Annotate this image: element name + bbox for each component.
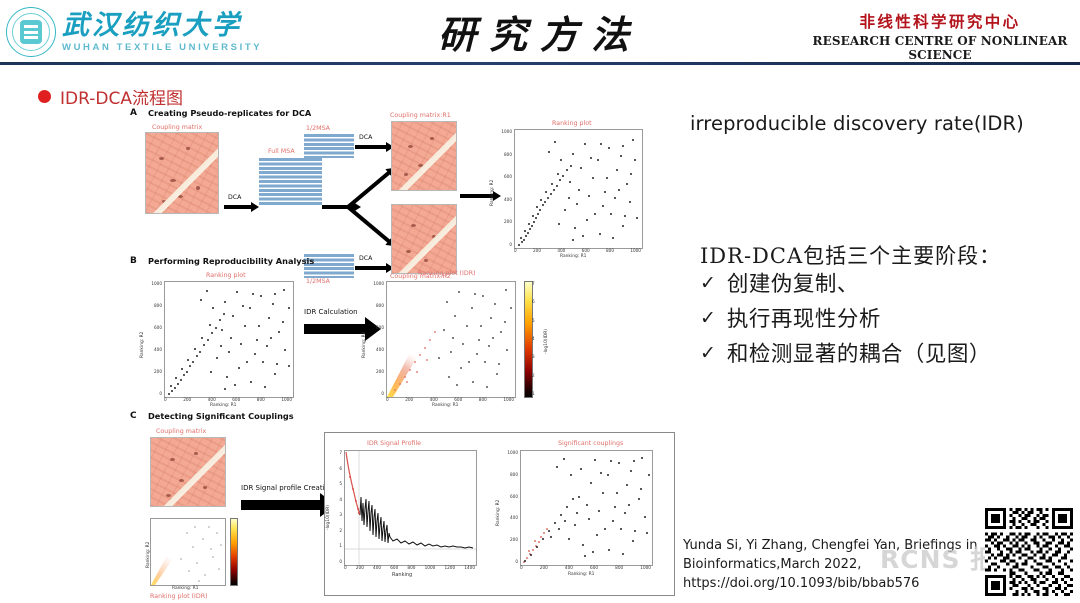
list-item: ✓ 创建伪复制、 [700, 272, 991, 299]
panel-a-full-msa-label: Full MSA [268, 148, 295, 155]
idr-dca-workflow-figure: A Creating Pseudo-replicates for DCA Cou… [128, 106, 673, 601]
citation-line-2: Bioinformatics,March 2022, [683, 556, 978, 575]
idr-signal-profile-xlabel: Ranking [392, 572, 412, 578]
stages-lead-text: IDR-DCA包括三个主要阶段： [700, 240, 1001, 270]
qr-code-graphic [985, 508, 1073, 596]
check-mark-icon: ✓ [700, 307, 716, 330]
panel-c-title: Detecting Significant Couplings [148, 411, 294, 421]
panel-b-title: Performing Reproducibility Analysis [148, 256, 314, 266]
idr-colorbar-b-label: -log10(IDR) [544, 329, 549, 354]
panel-a-coupling-matrix-label: Coupling matrix [152, 124, 202, 131]
arrow-idr-signal-creation [241, 500, 321, 510]
ranking-plot-idr-c-ylabel: Ranking: R2 [146, 542, 151, 568]
centre-name-cn: 非线性科学研究中心 [806, 10, 1074, 32]
ranking-plot-a-ylabel: Ranking: R2 [490, 180, 495, 206]
stage-label-3: 和检测显著的耦合（见图） [727, 342, 991, 369]
idr-colorbar-c [230, 518, 238, 586]
ranking-plot-a-xticks: 02004006008001000 [514, 248, 641, 253]
qr-code-icon[interactable] [985, 508, 1073, 596]
significant-couplings-xticks: 02004006008001000 [520, 565, 651, 570]
ranking-plot-idr-b-ylabel: Ranking: R2 [362, 332, 367, 358]
panel-c-tag: C [130, 411, 137, 421]
full-msa-block [259, 158, 322, 205]
centre-name-en: RESEARCH CENTRE OF NONLINEAR SCIENCE [806, 34, 1074, 62]
idr-signal-creation-label: IDR Signal profile Creation [241, 484, 333, 492]
check-mark-icon: ✓ [700, 272, 716, 295]
ranking-plot-idr-b-xticks: 02004006008001000 [386, 397, 514, 402]
red-dot-icon [38, 90, 51, 103]
panel-b-ranking-plot-title: Ranking plot [206, 272, 246, 279]
ranking-plot-b-xlabel: Ranking: R1 [210, 403, 236, 408]
panel-a-coupling-r1-label: Coupling matrix:R1 [390, 112, 451, 119]
arrow-dca-3 [355, 266, 387, 270]
ranking-plot-idr-c-xlabel: Ranking: R1 [172, 586, 198, 591]
panel-a-ranking-plot-title: Ranking plot [552, 120, 592, 127]
significant-couplings-plot [520, 450, 653, 566]
panel-a-dca-label-1: DCA [228, 194, 241, 201]
arrow-dca-1 [224, 205, 252, 209]
significant-couplings-ylabel: Ranking: R2 [496, 500, 501, 526]
coupling-matrix-r2-heatmap [391, 204, 457, 274]
header-divider [0, 62, 1080, 65]
citation-line-1: Yunda Si, Yi Zhang, Chengfei Yan, Briefi… [683, 537, 978, 556]
panel-a-dca-label-3: DCA [359, 255, 372, 262]
ranking-plot-a-xlabel: Ranking: R1 [560, 254, 586, 259]
right-text-block: irreproducible discovery rate(IDR) [690, 112, 1074, 135]
significant-couplings-scatter [521, 451, 652, 565]
significant-couplings-yticks: 02004006008001000 [500, 450, 518, 564]
stages-checklist: ✓ 创建伪复制、 ✓ 执行再现性分析 ✓ 和检测显著的耦合（见图） [700, 272, 991, 377]
citation-block: Yunda Si, Yi Zhang, Chengfei Yan, Briefi… [683, 537, 978, 594]
ranking-plot-idr-b-xlabel: Ranking: R1 [432, 403, 458, 408]
idr-signal-profile-title: IDR Signal Profile [367, 440, 421, 447]
arrow-branch-down [347, 205, 391, 243]
idr-signal-profile-yticks: 01234567 [330, 450, 342, 564]
slide-root: 武汉纺织大学 WUHAN TEXTILE UNIVERSITY 研究方法 非线性… [0, 0, 1080, 603]
ranking-plot-a [514, 129, 643, 249]
idr-definition-line: irreproducible discovery rate(IDR) [690, 112, 1074, 135]
panel-c-coupling-matrix-label: Coupling matrix [156, 428, 206, 435]
ranking-plot-idr-b-yticks: 02004006008001000 [366, 281, 384, 396]
idr-definition-rest: discovery rate(IDR) [827, 112, 1024, 135]
idr-calculation-label: IDR Calculation [304, 308, 358, 316]
panel-a-title: Creating Pseudo-replicates for DCA [148, 108, 311, 118]
half-msa-block-top [304, 134, 354, 158]
panel-c-ranking-idr-caption: Ranking plot (IDR) [150, 593, 208, 600]
idr-signal-profile-line [345, 451, 476, 565]
idr-signal-profile-plot [344, 450, 477, 566]
arrow-to-ranking-plot-a [460, 194, 494, 198]
ranking-plot-idr-b [386, 281, 516, 398]
list-item: ✓ 和检测显著的耦合（见图） [700, 342, 991, 369]
check-mark-icon: ✓ [700, 342, 716, 365]
panel-a-half-msa-label-top: 1/2MSA [306, 125, 330, 132]
idr-signal-profile-xticks: 0200400600800100012001400 [344, 565, 475, 570]
panel-b-ranking-idr-title: Ranking plot (IDR) [418, 270, 476, 277]
ranking-plot-a-scatter [515, 130, 642, 248]
ranking-plot-idr-c-scatter [151, 519, 225, 585]
coupling-matrix-r1-heatmap [391, 121, 457, 191]
ranking-plot-b-ylabel: Ranking: R2 [140, 332, 145, 358]
panel-a-tag: A [130, 108, 137, 118]
stage-label-2: 执行再现性分析 [727, 307, 881, 334]
significant-couplings-title: Significant couplings [558, 440, 623, 447]
stage-label-1: 创建伪复制、 [727, 272, 859, 299]
ranking-plot-b-scatter [165, 282, 293, 397]
list-item: ✓ 执行再现性分析 [700, 307, 991, 334]
ranking-plot-b [164, 281, 294, 398]
idr-definition-emphasis: irreproducible [690, 112, 827, 135]
citation-doi-link[interactable]: https://doi.org/10.1093/bib/bbab576 [683, 575, 978, 594]
idr-colorbar-b-ticks: 1234567 [532, 281, 542, 396]
panel-b-tag: B [130, 256, 137, 266]
ranking-plot-a-yticks: 02004006008001000 [494, 129, 512, 247]
ranking-plot-idr-c [150, 518, 226, 586]
ranking-plot-b-yticks: 02004006008001000 [144, 281, 162, 396]
arrow-branch-up [347, 171, 391, 209]
panel-a-dca-label-2: DCA [359, 134, 372, 141]
coupling-matrix-heatmap [145, 132, 219, 214]
panel-a-half-msa-label-bottom: 1/2MSA [306, 278, 330, 285]
research-centre-brand: 非线性科学研究中心 RESEARCH CENTRE OF NONLINEAR S… [806, 10, 1074, 62]
coupling-matrix-c-heatmap [150, 437, 226, 507]
slide-header: 武汉纺织大学 WUHAN TEXTILE UNIVERSITY 研究方法 非线性… [0, 0, 1080, 62]
ranking-plot-idr-b-scatter [387, 282, 515, 397]
arrow-idr-calculation [304, 324, 366, 334]
idr-signal-profile-ylabel: -log10(IDR) [326, 505, 331, 530]
significant-couplings-xlabel: Ranking: R1 [568, 572, 594, 577]
arrow-dca-2 [355, 145, 387, 149]
ranking-plot-b-xticks: 02004006008001000 [164, 397, 292, 402]
